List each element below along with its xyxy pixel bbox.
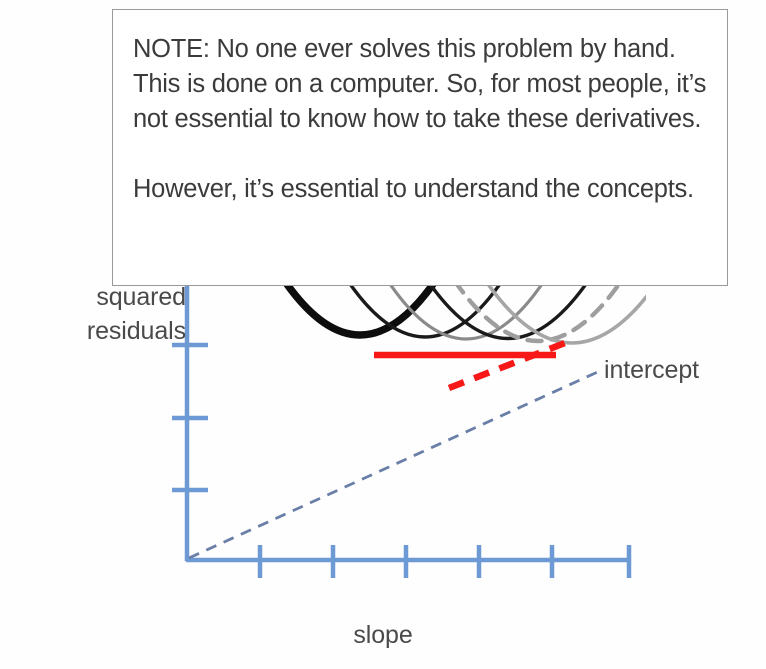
note-paragraph-1: NOTE: No one ever solves this problem by…: [133, 32, 709, 137]
x-axis-label: slope: [0, 618, 766, 652]
intercept-depth-axis: [189, 370, 602, 558]
note-paragraph-2: However, it’s essential to understand th…: [133, 172, 709, 207]
slide-canvas: Sum squared residuals slope intercept NO…: [0, 0, 766, 669]
intercept-axis-label: intercept: [604, 353, 699, 387]
intercept-derivative-tangent: [449, 343, 565, 388]
y-axis-label-line-3: residuals: [36, 314, 186, 348]
y-axis-ticks: [172, 345, 208, 490]
note-paragraph-spacer: [133, 137, 709, 172]
axis-lines: [186, 286, 631, 561]
note-callout: NOTE: No one ever solves this problem by…: [112, 9, 728, 286]
